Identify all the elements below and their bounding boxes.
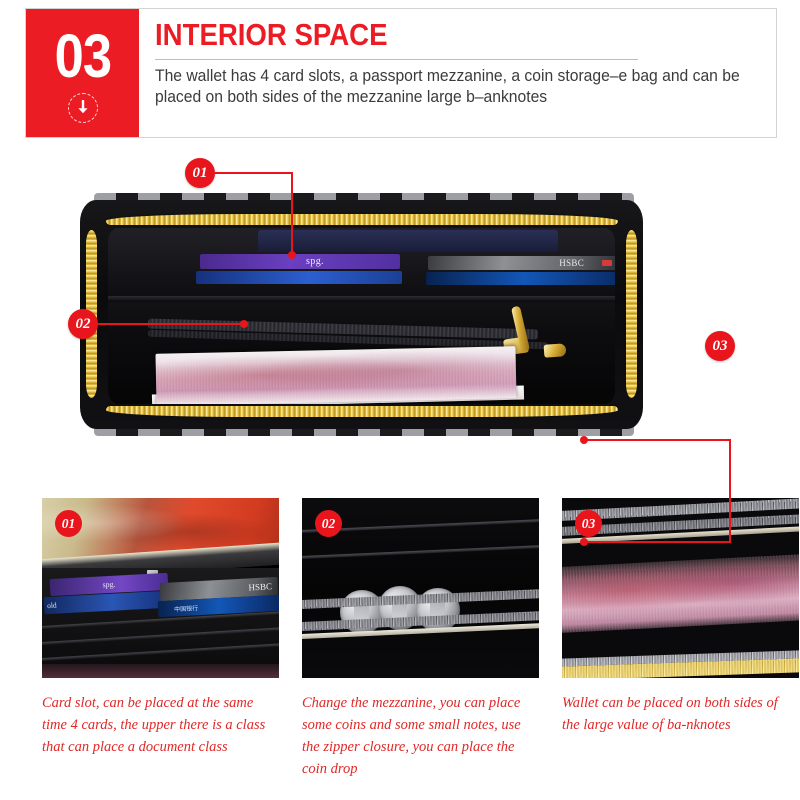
panel-badge-01[interactable]: 01 — [55, 510, 82, 537]
zipper-bottom — [106, 406, 618, 417]
card-slot-item — [196, 271, 402, 284]
callout-line-02 — [97, 323, 245, 325]
panel-image-03: 03 — [562, 498, 799, 678]
panel-badge-02[interactable]: 02 — [315, 510, 342, 537]
panel-caption-02: Change the mezzanine, you can place some… — [302, 692, 539, 780]
callout-dot-03-lower — [580, 538, 588, 546]
section-header: 03 INTERIOR SPACE The wallet has 4 card … — [25, 8, 777, 138]
banknote-front — [155, 346, 516, 404]
card-brand-label: spg. — [306, 256, 324, 267]
zipper-top — [106, 214, 618, 225]
callout-line-03-vertical — [729, 439, 731, 543]
zipper-right — [626, 230, 637, 398]
card-brand-label: spg. — [102, 580, 116, 590]
hero-product-figure: spg. HSBC 01 02 — [0, 145, 800, 475]
callout-badge-03[interactable]: 03 — [705, 331, 735, 361]
detail-panel-03: 03 Wallet can be placed on both sides of… — [562, 498, 799, 736]
panel-image-02: 02 — [302, 498, 539, 678]
document-pocket — [258, 230, 558, 252]
card-slot-item: HSBC — [428, 256, 615, 270]
callout-line-01-horizontal — [215, 172, 293, 174]
callout-line-03-upper — [583, 439, 731, 441]
card-slot-item: spg. — [200, 254, 400, 269]
panel-caption-01: Card slot, can be placed at the same tim… — [42, 692, 279, 758]
callout-line-03-lower — [583, 541, 731, 543]
panel-image-01: spg. old HSBC 中国银行 01 — [42, 498, 279, 678]
page-title: INTERIOR SPACE — [155, 19, 742, 52]
card-slot-item — [426, 272, 615, 285]
callout-line-01-vertical — [291, 172, 293, 255]
header-description: The wallet has 4 card slots, a passport … — [155, 66, 782, 108]
callout-badge-01[interactable]: 01 — [185, 158, 215, 188]
wallet-interior: spg. HSBC — [108, 228, 615, 404]
panel-caption-03: Wallet can be placed on both sides of th… — [562, 692, 799, 736]
banknote — [562, 553, 799, 633]
callout-badge-02[interactable]: 02 — [68, 309, 98, 339]
card-brand-label: HSBC — [559, 258, 584, 268]
zipper-pull-tip — [544, 343, 567, 358]
callout-dot-03-upper — [580, 436, 588, 444]
card-brand-label: 中国银行 — [174, 603, 198, 613]
detail-panel-02: 02 Change the mezzanine, you can place s… — [302, 498, 539, 780]
callout-dot-02 — [240, 320, 248, 328]
wallet-shell: spg. HSBC — [80, 200, 643, 429]
section-number-badge: 03 — [26, 9, 139, 137]
panel-badge-03[interactable]: 03 — [575, 510, 602, 537]
arrow-down-icon — [68, 93, 98, 123]
section-number: 03 — [54, 26, 111, 87]
callout-dot-01 — [288, 251, 296, 259]
card-logo-mark — [602, 260, 612, 266]
title-divider — [155, 59, 638, 60]
wallet-illustration: spg. HSBC — [80, 193, 643, 436]
panel-01-note-edge — [42, 664, 279, 678]
detail-panel-01: spg. old HSBC 中国银行 01 Card slot, can be … — [42, 498, 279, 758]
card-brand-label: old — [47, 601, 57, 610]
header-text-block: INTERIOR SPACE The wallet has 4 card slo… — [139, 9, 800, 137]
card-brand-label: HSBC — [248, 581, 272, 592]
pocket-lip — [108, 296, 615, 302]
